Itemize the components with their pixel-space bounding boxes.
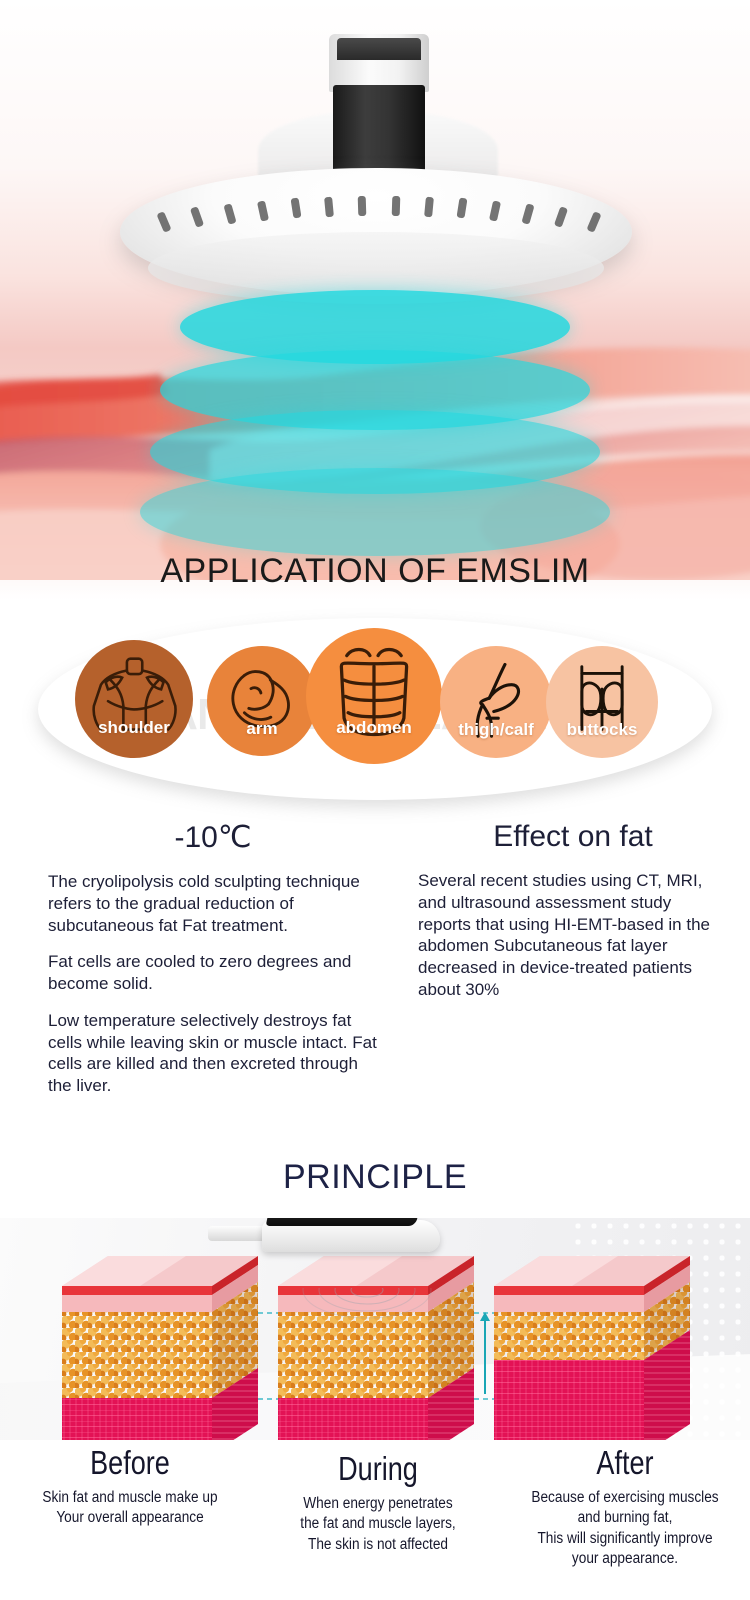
body-area-buttocks[interactable]: buttocks (546, 646, 658, 758)
handpiece-applicator (254, 1218, 484, 1264)
vent-slot (521, 203, 534, 224)
caption-body: Because of exercising musclesand burning… (515, 1488, 735, 1570)
skin-block-after (494, 1256, 690, 1440)
muscle-layer-guide-line (258, 1398, 278, 1400)
body-area-shoulder[interactable]: shoulder (75, 640, 193, 758)
hero-section: APPLICATION OF EMSLIM (0, 0, 750, 600)
body-area-circle-list: shoulderarmabdomenthigh/calfbuttocks (0, 600, 750, 820)
stage-captions: BeforeSkin fat and muscle make upYour ov… (0, 1444, 750, 1600)
vent-slot (291, 198, 302, 219)
caption-title: Before (32, 1444, 229, 1482)
principle-diagram-section (0, 1218, 750, 1440)
vent-slot (190, 207, 204, 229)
caption-during: DuringWhen energy penetratesthe fat and … (258, 1450, 498, 1555)
abs-six-pack-icon (306, 642, 442, 716)
info-columns: -10℃ The cryolipolysis cold sculpting te… (0, 820, 750, 1170)
handpiece-cable (208, 1226, 270, 1241)
vent-slot (391, 196, 400, 216)
column-effect-on-fat: Effect on fat Several recent studies usi… (418, 820, 728, 1016)
wave-ring-4 (140, 468, 610, 556)
vent-slot (554, 207, 568, 229)
vent-slot (358, 196, 367, 216)
cryolipolysis-paragraph-1: The cryolipolysis cold sculpting techniq… (48, 871, 378, 936)
emslim-applicator (0, 0, 750, 340)
fat-layer-guide-line (258, 1312, 278, 1314)
vent-slot (224, 203, 237, 224)
caption-after: AfterBecause of exercising musclesand bu… (500, 1444, 750, 1570)
caption-title: During (280, 1450, 477, 1488)
skin-block-before (62, 1256, 258, 1440)
caption-body: Skin fat and muscle make upYour overall … (24, 1488, 235, 1529)
muscle-layer-guide-line (474, 1398, 494, 1400)
body-area-label: buttocks (523, 720, 681, 740)
handpiece-top (266, 1218, 421, 1226)
caption-body: When energy penetratesthe fat and muscle… (272, 1494, 483, 1555)
principle-title: PRINCIPLE (0, 1158, 750, 1197)
body-area-thigh-calf[interactable]: thigh/calf (440, 646, 552, 758)
body-area-arm[interactable]: arm (207, 646, 317, 756)
cryolipolysis-paragraph-3: Low temperature selectively destroys fat… (48, 1010, 378, 1097)
column-cryolipolysis: -10℃ The cryolipolysis cold sculpting te… (48, 820, 378, 1112)
cryolipolysis-heading: -10℃ (48, 820, 378, 855)
fat-reduction-arrow-stem (484, 1320, 486, 1394)
hero-title: APPLICATION OF EMSLIM (0, 552, 750, 591)
vent-slot (489, 200, 501, 221)
skin-block-during (278, 1256, 474, 1440)
body-area-abdomen[interactable]: abdomen (306, 628, 442, 764)
application-areas-section: GUANGZHOUBEAUTYLIFE shoulderarmabdomenth… (0, 600, 750, 820)
vent-slot (424, 197, 434, 218)
caption-before: BeforeSkin fat and muscle make upYour ov… (10, 1444, 250, 1529)
vent-slot (456, 198, 467, 219)
caption-title: After (523, 1444, 728, 1482)
fat-reduction-arrow-head (480, 1312, 490, 1321)
vent-slot (324, 197, 334, 218)
device-handle-slot (337, 38, 421, 60)
cryolipolysis-paragraph-2: Fat cells are cooled to zero degrees and… (48, 951, 378, 995)
effect-on-fat-paragraph-1: Several recent studies using CT, MRI, an… (418, 870, 728, 1001)
device-vents (160, 196, 590, 230)
device-grip (333, 85, 425, 173)
vent-slot (257, 200, 269, 221)
energy-penetration-arcs (292, 1288, 442, 1340)
effect-on-fat-heading: Effect on fat (418, 820, 728, 854)
